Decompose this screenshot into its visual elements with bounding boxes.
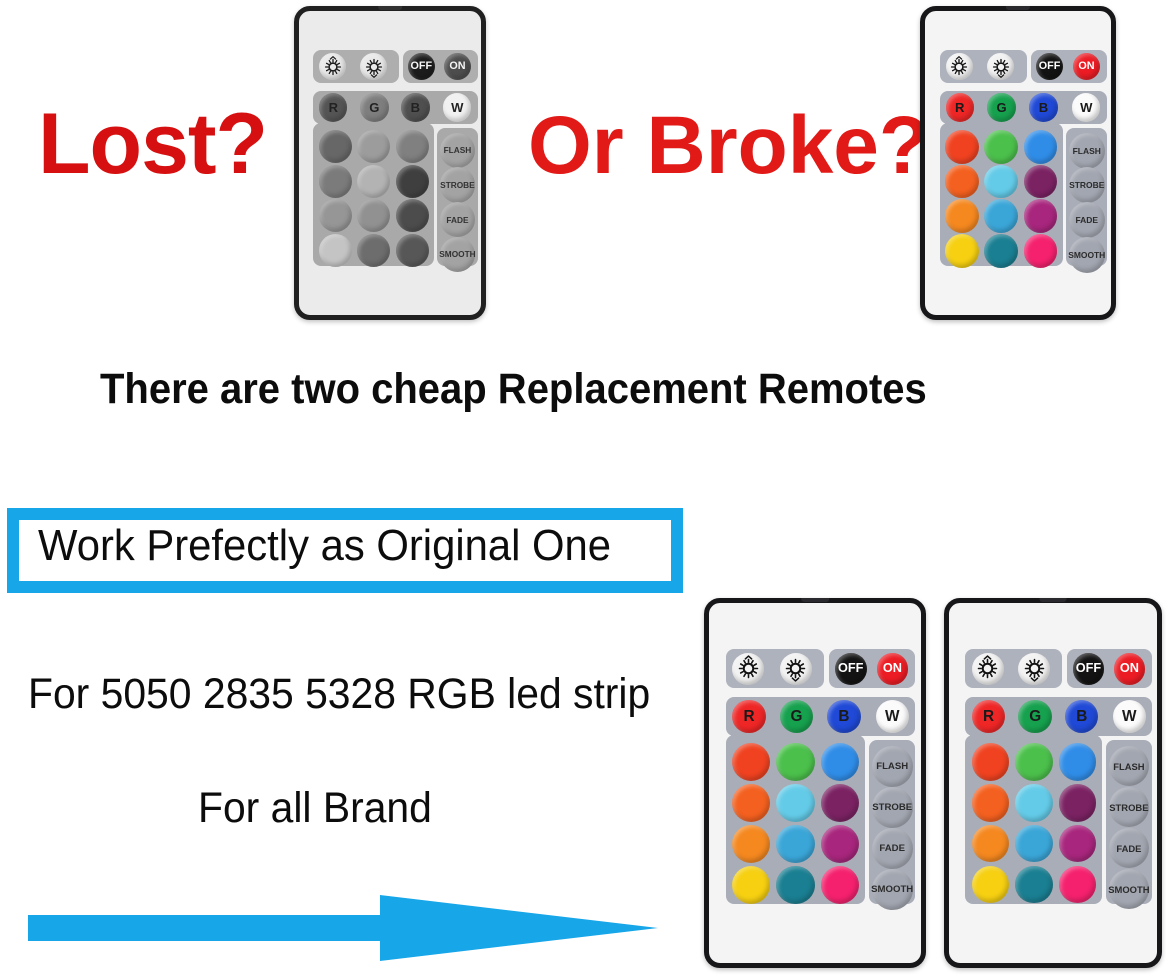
button-label: STROBE xyxy=(1069,180,1104,190)
remote-replacement-2: OFFONRGBWFLASHSTROBEFADESMOOTH xyxy=(944,598,1162,968)
bullet-all-brand: For all Brand xyxy=(198,784,432,833)
ir-emitter xyxy=(378,6,402,10)
button-label: R xyxy=(329,101,338,114)
button-color-swatch[interactable] xyxy=(396,234,429,267)
button-brightness-up[interactable] xyxy=(946,53,973,80)
button-label: W xyxy=(1080,101,1092,114)
sun-up-icon xyxy=(973,654,1002,683)
button-label: G xyxy=(790,709,802,724)
button-color-swatch[interactable] xyxy=(776,825,814,863)
button-mode-strobe[interactable]: STROBE xyxy=(1069,167,1105,203)
button-mode-fade[interactable]: FADE xyxy=(1109,828,1149,868)
button-color-green[interactable]: G xyxy=(1018,700,1051,733)
button-color-swatch[interactable] xyxy=(1024,130,1058,164)
button-power-on[interactable]: ON xyxy=(1073,53,1100,80)
button-power-off[interactable]: OFF xyxy=(835,653,867,685)
button-color-swatch[interactable] xyxy=(396,130,429,163)
button-color-swatch[interactable] xyxy=(776,866,814,904)
button-brightness-up[interactable] xyxy=(972,653,1004,685)
button-label: FADE xyxy=(1075,215,1098,225)
headline-or-broke: Or Broke? xyxy=(528,99,929,193)
sun-down-icon xyxy=(1020,654,1049,683)
button-mode-smooth[interactable]: SMOOTH xyxy=(872,869,913,910)
button-label: FLASH xyxy=(1113,761,1144,772)
button-label: G xyxy=(1029,709,1041,724)
button-color-white[interactable]: W xyxy=(443,93,471,121)
button-color-swatch[interactable] xyxy=(821,866,859,904)
button-color-swatch[interactable] xyxy=(319,130,352,163)
button-label: FADE xyxy=(879,843,905,854)
button-color-swatch[interactable] xyxy=(732,866,770,904)
button-color-swatch[interactable] xyxy=(945,130,979,164)
ir-emitter xyxy=(1039,598,1066,602)
button-label: OFF xyxy=(1076,662,1101,675)
button-label: R xyxy=(743,709,754,724)
button-color-swatch[interactable] xyxy=(319,165,352,198)
button-mode-flash[interactable]: FLASH xyxy=(440,133,475,168)
button-color-swatch[interactable] xyxy=(357,165,390,198)
button-power-on[interactable]: ON xyxy=(1114,653,1146,685)
remote-faceplate: OFFONRGBWFLASHSTROBEFADESMOOTH xyxy=(299,11,481,315)
button-color-white[interactable]: W xyxy=(1072,93,1100,121)
button-color-blue[interactable]: B xyxy=(827,700,860,733)
button-label: SMOOTH xyxy=(439,249,475,259)
subtitle-replacement-remotes: There are two cheap Replacement Remotes xyxy=(100,365,927,414)
button-color-swatch[interactable] xyxy=(1015,866,1053,904)
button-label: OFF xyxy=(838,662,863,675)
button-mode-fade[interactable]: FADE xyxy=(1069,202,1105,238)
button-color-swatch[interactable] xyxy=(945,165,979,199)
button-color-swatch[interactable] xyxy=(984,234,1018,268)
button-power-on[interactable]: ON xyxy=(444,53,471,80)
remote-faceplate: OFFONRGBWFLASHSTROBEFADESMOOTH xyxy=(709,603,921,963)
sun-up-icon xyxy=(947,55,971,79)
button-label: SMOOTH xyxy=(871,884,913,895)
ir-emitter xyxy=(801,598,829,602)
sun-down-icon xyxy=(781,654,810,683)
button-mode-smooth[interactable]: SMOOTH xyxy=(440,237,475,272)
button-label: STROBE xyxy=(440,180,475,190)
sun-down-icon xyxy=(989,55,1013,79)
button-color-swatch[interactable] xyxy=(972,743,1010,781)
sun-down-icon xyxy=(362,55,386,79)
button-color-blue[interactable]: B xyxy=(401,93,429,121)
button-label: W xyxy=(885,709,900,724)
button-label: FLASH xyxy=(876,761,908,772)
button-color-swatch[interactable] xyxy=(821,825,859,863)
button-color-swatch[interactable] xyxy=(821,784,859,822)
button-label: SMOOTH xyxy=(1068,250,1105,260)
button-label: R xyxy=(983,709,994,724)
button-label: B xyxy=(1076,709,1087,724)
button-color-swatch[interactable] xyxy=(396,199,429,232)
button-color-swatch[interactable] xyxy=(1015,825,1053,863)
button-color-swatch[interactable] xyxy=(776,784,814,822)
button-label: STROBE xyxy=(1109,802,1148,813)
button-brightness-down[interactable] xyxy=(1018,653,1050,685)
button-mode-flash[interactable]: FLASH xyxy=(1069,133,1105,169)
button-color-swatch[interactable] xyxy=(984,130,1018,164)
button-color-swatch[interactable] xyxy=(776,743,814,781)
bullet-compatibility: For 5050 2835 5328 RGB led strip xyxy=(28,670,650,719)
button-label: FLASH xyxy=(1073,146,1101,156)
button-color-swatch[interactable] xyxy=(319,234,352,267)
button-color-red[interactable]: R xyxy=(732,700,765,733)
button-mode-smooth[interactable]: SMOOTH xyxy=(1069,237,1105,273)
button-label: G xyxy=(369,101,379,114)
button-label: W xyxy=(1122,709,1137,724)
button-label: FADE xyxy=(446,215,468,225)
button-brightness-down[interactable] xyxy=(780,653,812,685)
button-power-on[interactable]: ON xyxy=(877,653,909,685)
sun-up-icon xyxy=(734,654,763,683)
button-color-swatch[interactable] xyxy=(1059,743,1097,781)
button-color-swatch[interactable] xyxy=(1059,784,1097,822)
button-label: W xyxy=(451,101,463,114)
button-label: B xyxy=(1039,101,1048,114)
button-label: FADE xyxy=(1116,843,1141,854)
button-mode-strobe[interactable]: STROBE xyxy=(1109,787,1149,827)
button-power-off[interactable]: OFF xyxy=(1073,653,1105,685)
button-label: STROBE xyxy=(872,802,912,813)
button-label: OFF xyxy=(1039,61,1061,72)
button-color-swatch[interactable] xyxy=(1024,234,1058,268)
button-label: ON xyxy=(449,61,465,72)
sun-up-icon xyxy=(321,55,345,79)
button-color-red[interactable]: R xyxy=(319,93,347,121)
button-mode-strobe[interactable]: STROBE xyxy=(440,167,475,202)
callout-box-text: Work Prefectly as Original One xyxy=(38,521,611,571)
button-color-green[interactable]: G xyxy=(987,93,1015,121)
button-mode-smooth[interactable]: SMOOTH xyxy=(1109,869,1149,909)
blue-arrow-icon xyxy=(28,893,658,963)
button-label: ON xyxy=(1078,61,1094,72)
remote-replacement-1: OFFONRGBWFLASHSTROBEFADESMOOTH xyxy=(704,598,926,968)
button-color-swatch[interactable] xyxy=(945,234,979,268)
button-mode-strobe[interactable]: STROBE xyxy=(872,787,913,828)
button-mode-fade[interactable]: FADE xyxy=(872,828,913,869)
button-label: ON xyxy=(883,662,902,675)
headline-lost: Lost? xyxy=(38,95,267,194)
button-color-red[interactable]: R xyxy=(946,93,974,121)
button-color-blue[interactable]: B xyxy=(1029,93,1057,121)
button-brightness-up[interactable] xyxy=(732,653,764,685)
ir-emitter xyxy=(1006,6,1030,10)
button-color-swatch[interactable] xyxy=(1015,784,1053,822)
remote-lost-grayscale: OFFONRGBWFLASHSTROBEFADESMOOTH xyxy=(294,6,486,320)
button-color-green[interactable]: G xyxy=(360,93,388,121)
remote-faceplate: OFFONRGBWFLASHSTROBEFADESMOOTH xyxy=(949,603,1157,963)
button-label: G xyxy=(997,101,1007,114)
remote-faceplate: OFFONRGBWFLASHSTROBEFADESMOOTH xyxy=(925,11,1111,315)
button-label: OFF xyxy=(411,61,433,72)
button-power-off[interactable]: OFF xyxy=(408,53,435,80)
button-label: SMOOTH xyxy=(1108,884,1149,895)
button-mode-flash[interactable]: FLASH xyxy=(872,746,913,787)
button-label: B xyxy=(411,101,420,114)
button-label: R xyxy=(955,101,964,114)
button-label: ON xyxy=(1120,662,1139,675)
remote-broke-color: OFFONRGBWFLASHSTROBEFADESMOOTH xyxy=(920,6,1116,320)
button-color-swatch[interactable] xyxy=(1015,743,1053,781)
button-label: B xyxy=(838,709,849,724)
button-color-swatch[interactable] xyxy=(945,199,979,233)
button-color-swatch[interactable] xyxy=(972,784,1010,822)
button-color-swatch[interactable] xyxy=(396,165,429,198)
button-label: FLASH xyxy=(444,145,472,155)
button-color-swatch[interactable] xyxy=(821,743,859,781)
